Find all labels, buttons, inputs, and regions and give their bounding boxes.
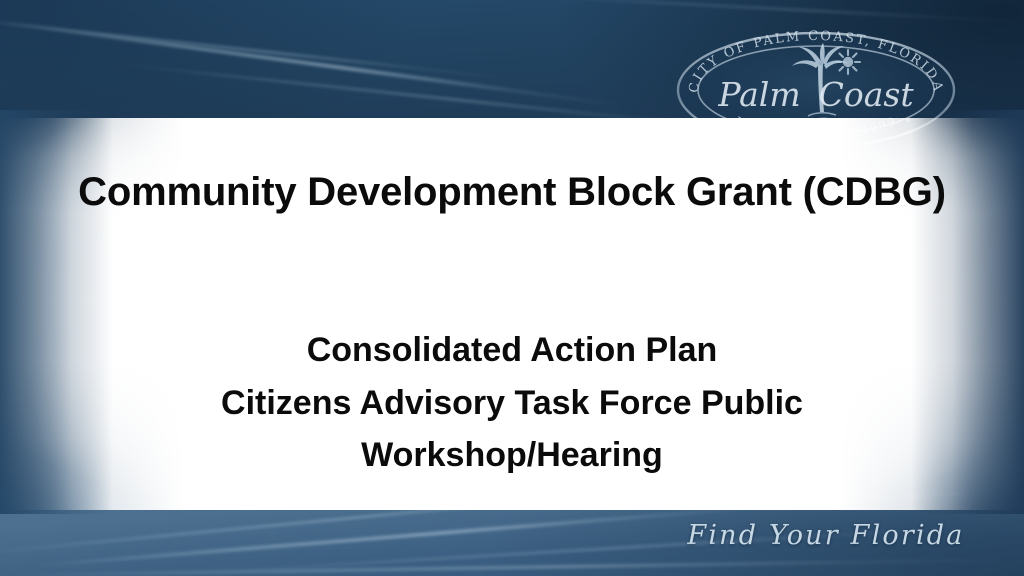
subtitle-line-1: Consolidated Action Plan [0,324,1024,377]
presentation-slide: CITY OF PALM COAST, FLORIDA INCORPORATED… [0,0,1024,576]
slide-subtitle: Consolidated Action Plan Citizens Adviso… [0,324,1024,482]
tagline: Find Your Florida [676,520,976,551]
page-title: Community Development Block Grant (CDBG) [0,170,1024,215]
subtitle-line-3: Workshop/Hearing [0,429,1024,482]
subtitle-line-2: Citizens Advisory Task Force Public [0,377,1024,430]
